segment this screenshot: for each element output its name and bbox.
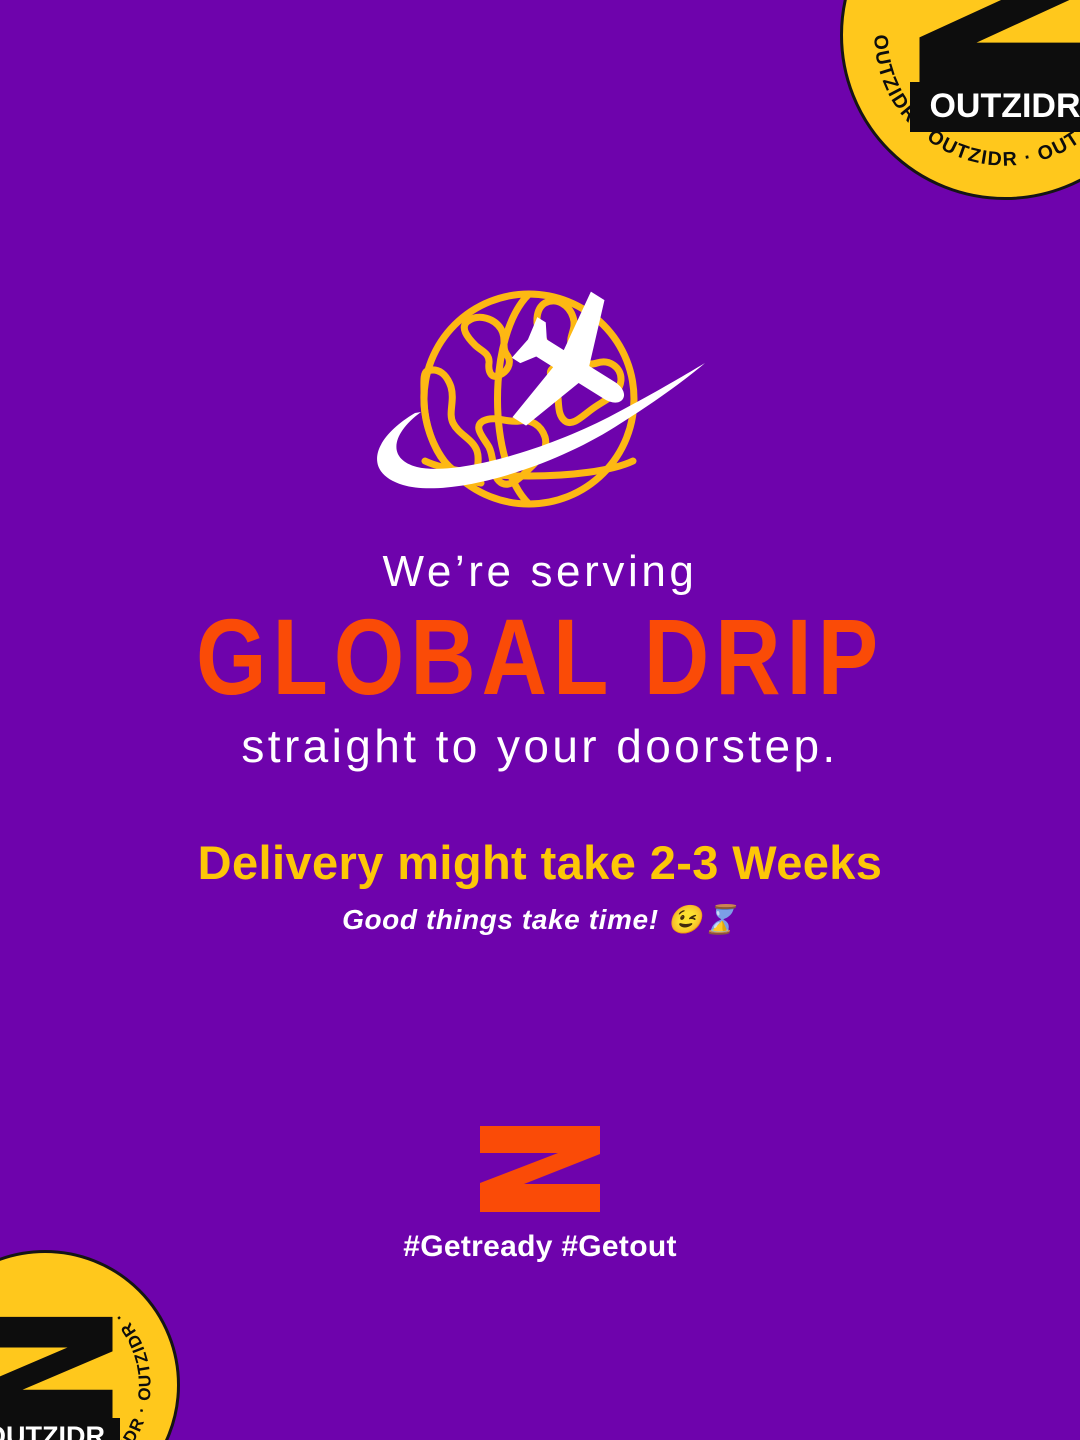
footer-lockup: #Getready #Getout	[0, 1126, 1080, 1262]
z-mark-icon	[0, 1313, 120, 1423]
globe-airplane-illustration	[355, 275, 725, 525]
subhead-text: straight to your doorstep.	[40, 721, 1040, 772]
delivery-notice: Delivery might take 2-3 Weeks	[40, 837, 1040, 889]
seal-lockup-bottom-left: OUTZIDR	[0, 1313, 120, 1440]
delivery-tagline: Good things take time! 😉⌛	[40, 905, 1040, 936]
seal-lockup-top-right: OUTZIDR	[910, 0, 1080, 132]
brand-seal-bottom-left: OUTZIDR · OUTZIDR · OUTZIDR · OUTZIDR · …	[0, 1250, 180, 1440]
z-mark-icon	[480, 1126, 600, 1212]
copy-block: We’re serving GLOBAL DRIP straight to yo…	[0, 548, 1080, 936]
poster-canvas: OUTZIDR · OUTZIDR · OUTZIDR · OUTZIDR · …	[0, 0, 1080, 1440]
hashtags-text: #Getready #Getout	[403, 1232, 677, 1262]
page-title: GLOBAL DRIP	[120, 602, 960, 712]
z-mark-icon	[910, 0, 1080, 88]
eyebrow-text: We’re serving	[40, 548, 1040, 596]
brand-seal-top-right: OUTZIDR · OUTZIDR · OUTZIDR · OUTZIDR · …	[840, 0, 1080, 200]
seal-wordmark-bottom-left: OUTZIDR	[0, 1418, 120, 1440]
seal-wordmark-top-right: OUTZIDR	[910, 82, 1080, 132]
